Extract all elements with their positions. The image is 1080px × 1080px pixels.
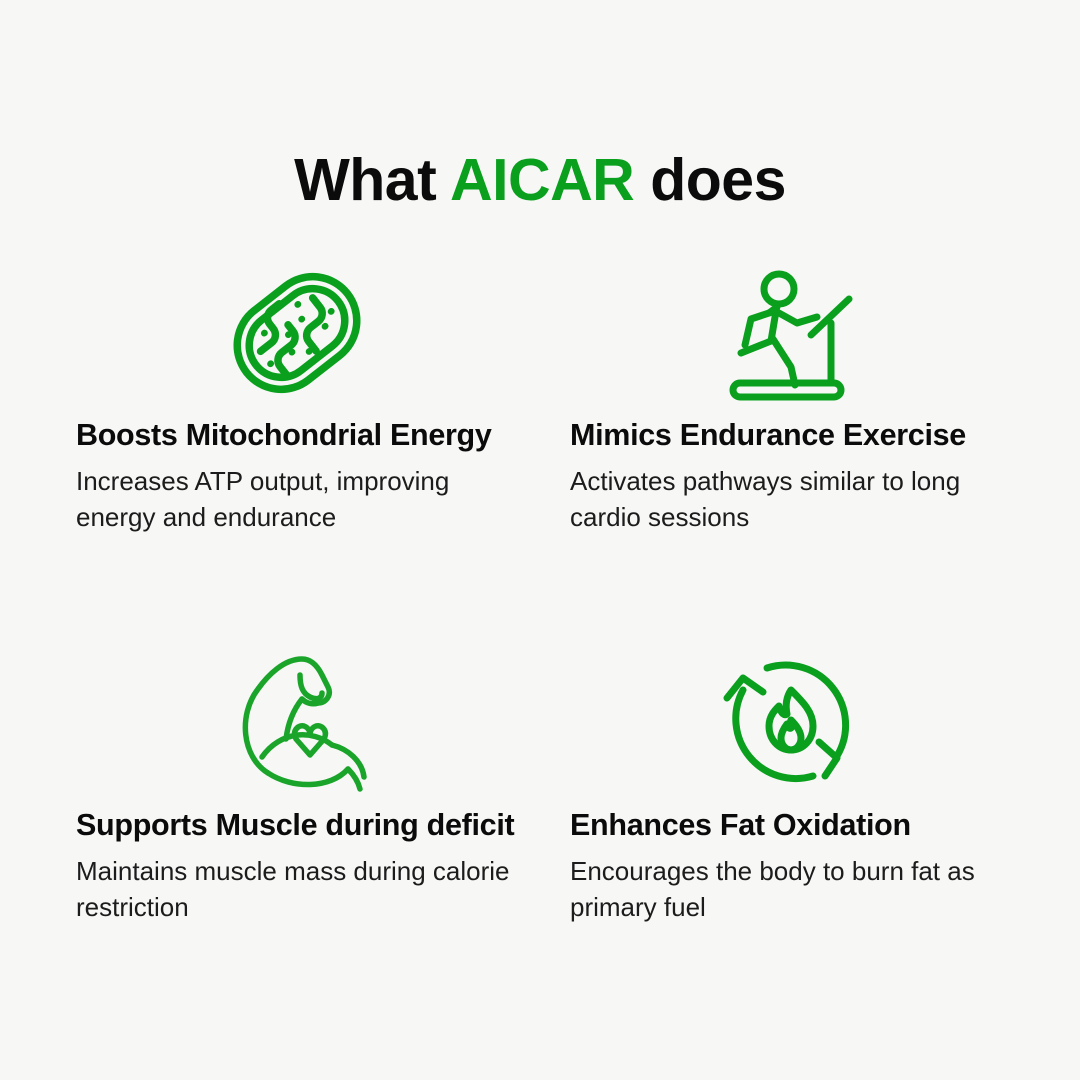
treadmill-runner-icon	[556, 262, 1026, 404]
page-title: What AICAR does	[0, 148, 1080, 213]
feature-card-endurance-exercise: Mimics Endurance Exercise Activates path…	[556, 262, 1026, 536]
feature-card-supports-muscle: Supports Muscle during deficit Maintains…	[62, 652, 532, 926]
feature-title: Mimics Endurance Exercise	[556, 418, 1026, 454]
flexed-bicep-heart-icon	[62, 652, 532, 794]
mitochondria-icon	[62, 262, 532, 404]
page-title-prefix: What	[294, 147, 450, 213]
feature-title: Supports Muscle during deficit	[62, 808, 532, 844]
feature-description: Maintains muscle mass during calorie res…	[62, 854, 516, 926]
flame-cycle-icon	[556, 652, 1026, 794]
page-title-suffix: does	[634, 147, 786, 213]
feature-description: Activates pathways similar to long cardi…	[556, 464, 1010, 536]
infographic-page: What AICAR does	[0, 0, 1080, 1080]
feature-card-mitochondrial-energy: Boosts Mitochondrial Energy Increases AT…	[62, 262, 532, 536]
feature-grid: Boosts Mitochondrial Energy Increases AT…	[0, 262, 1080, 1022]
feature-description: Encourages the body to burn fat as prima…	[556, 854, 1010, 926]
feature-title: Boosts Mitochondrial Energy	[62, 418, 532, 454]
feature-title: Enhances Fat Oxidation	[556, 808, 1026, 844]
page-title-accent: AICAR	[450, 147, 634, 213]
feature-card-fat-oxidation: Enhances Fat Oxidation Encourages the bo…	[556, 652, 1026, 926]
feature-description: Increases ATP output, improving energy a…	[62, 464, 516, 536]
